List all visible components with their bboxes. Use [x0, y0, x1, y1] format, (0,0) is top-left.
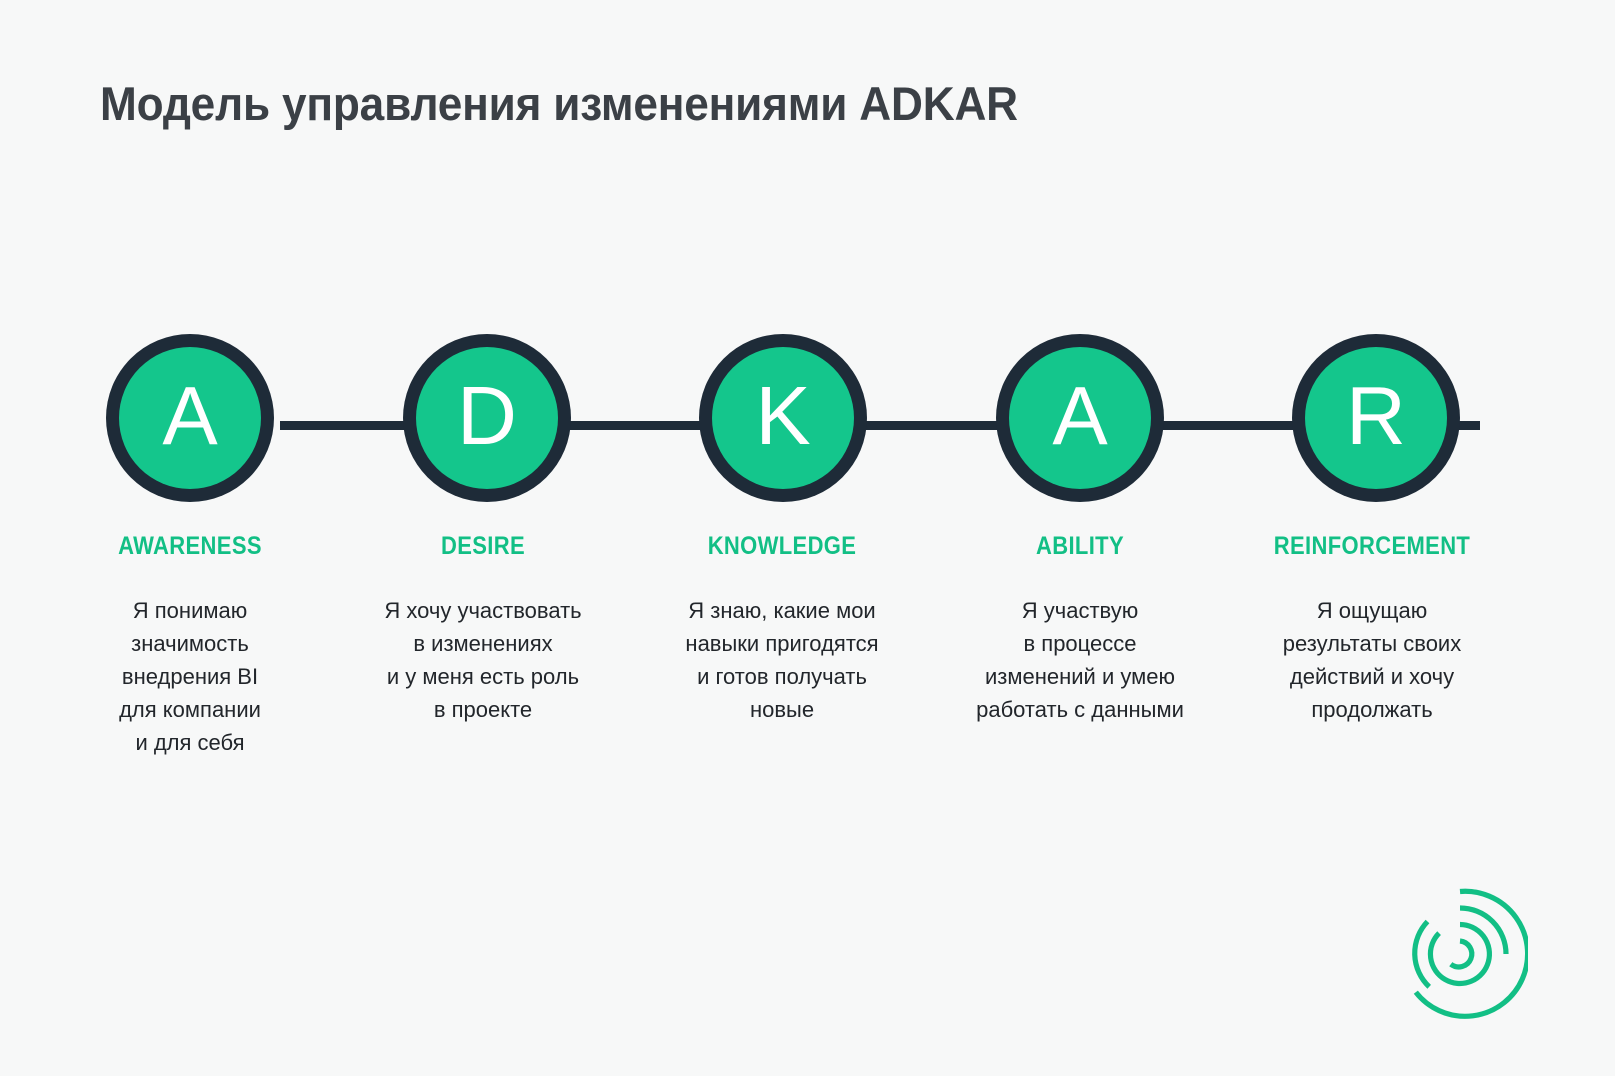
- stage-label-awareness: AWARENESS: [58, 532, 322, 561]
- node-ability-fill: A: [1009, 347, 1151, 489]
- stage-label-desire: DESIRE: [351, 532, 615, 561]
- node-reinforcement-letter: R: [1346, 374, 1406, 457]
- stage-description-ability: Я участвую в процессе изменений и умею р…: [930, 594, 1230, 726]
- brand-logo: [1392, 886, 1528, 1022]
- stage-label-knowledge: KNOWLEDGE: [650, 532, 914, 561]
- node-ability[interactable]: A: [996, 334, 1164, 502]
- adkar-diagram: A D K A R AWARENESS: [0, 0, 1615, 1076]
- node-awareness-letter: A: [162, 374, 217, 457]
- node-desire-letter: D: [457, 374, 517, 457]
- stage-description-awareness: Я понимаю значимость внедрения BI для ко…: [40, 594, 340, 759]
- stage-description-desire: Я хочу участвовать в изменениях и у меня…: [333, 594, 633, 726]
- node-reinforcement[interactable]: R: [1292, 334, 1460, 502]
- stage-column-awareness: AWARENESS Я понимаю значимость внедрения…: [40, 532, 340, 759]
- stage-column-desire: DESIRE Я хочу участвовать в изменениях и…: [333, 532, 633, 726]
- stage-description-reinforcement: Я ощущаю результаты своих действий и хоч…: [1222, 594, 1522, 726]
- infographic-canvas: Модель управления изменениями ADKAR A D …: [0, 0, 1615, 1076]
- node-knowledge[interactable]: K: [699, 334, 867, 502]
- node-knowledge-fill: K: [712, 347, 854, 489]
- stage-description-knowledge: Я знаю, какие мои навыки пригодятся и го…: [632, 594, 932, 726]
- stage-label-ability: ABILITY: [948, 532, 1212, 561]
- concentric-spiral-icon: [1392, 886, 1528, 1022]
- node-reinforcement-fill: R: [1305, 347, 1447, 489]
- node-desire[interactable]: D: [403, 334, 571, 502]
- stage-column-ability: ABILITY Я участвую в процессе изменений …: [930, 532, 1230, 726]
- node-knowledge-letter: K: [755, 374, 810, 457]
- node-desire-fill: D: [416, 347, 558, 489]
- node-awareness[interactable]: A: [106, 334, 274, 502]
- node-ability-letter: A: [1052, 374, 1107, 457]
- node-awareness-fill: A: [119, 347, 261, 489]
- stage-label-reinforcement: REINFORCEMENT: [1240, 532, 1504, 561]
- stage-column-knowledge: KNOWLEDGE Я знаю, какие мои навыки приго…: [632, 532, 932, 726]
- stage-column-reinforcement: REINFORCEMENT Я ощущаю результаты своих …: [1222, 532, 1522, 726]
